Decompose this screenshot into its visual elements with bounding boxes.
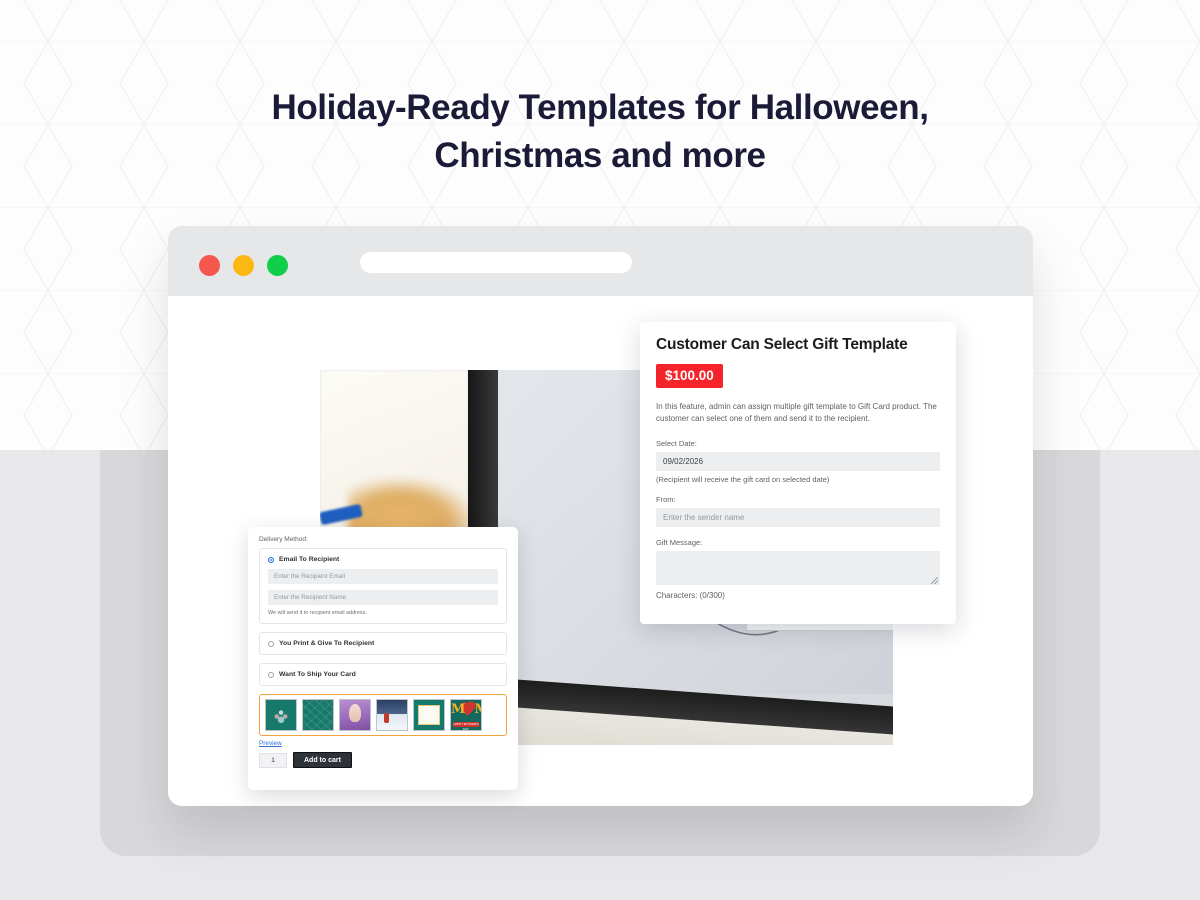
recipient-email-input[interactable]: Enter the Recipient Email xyxy=(268,569,498,584)
quantity-input[interactable]: 1 xyxy=(259,753,287,768)
heart-icon xyxy=(461,703,474,716)
template-thumbnail-2[interactable] xyxy=(302,699,334,731)
template-thumbnail-5[interactable] xyxy=(413,699,445,731)
character-counter: Characters: (0/300) xyxy=(656,591,940,600)
delivery-option-email[interactable]: Email To Recipient Enter the Recipient E… xyxy=(259,548,507,624)
delivery-option-print[interactable]: You Print & Give To Recipient xyxy=(259,632,507,655)
template-thumbnail-1[interactable] xyxy=(265,699,297,731)
radio-ship-card-icon[interactable] xyxy=(268,672,274,678)
delivery-option-ship-label: Want To Ship Your Card xyxy=(279,671,356,678)
from-input[interactable]: Enter the sender name xyxy=(656,508,940,527)
template-thumbnail-6[interactable]: HAPPY MOTHER'S DAY xyxy=(450,699,482,731)
headline-line-1: Holiday-Ready Templates for Halloween, xyxy=(271,88,928,127)
select-date-hint: (Recipient will receive the gift card on… xyxy=(656,475,940,484)
template-thumbnail-3[interactable] xyxy=(339,699,371,731)
recipient-name-input[interactable]: Enter the Recipient Name xyxy=(268,590,498,605)
from-label: From: xyxy=(656,495,940,504)
gift-panel-title: Customer Can Select Gift Template xyxy=(656,336,940,354)
page-root: Holiday-Ready Templates for Halloween, C… xyxy=(0,0,1200,900)
gift-message-label: Gift Message: xyxy=(656,538,940,547)
gift-panel-description: In this feature, admin can assign multip… xyxy=(656,401,940,425)
window-maximize-icon[interactable] xyxy=(267,255,288,276)
headline-line-2: Christmas and more xyxy=(0,132,1200,180)
price-badge: $100.00 xyxy=(656,364,723,388)
window-minimize-icon[interactable] xyxy=(233,255,254,276)
gift-template-panel: Customer Can Select Gift Template $100.0… xyxy=(640,322,956,624)
delivery-method-label: Delivery Method: xyxy=(259,536,507,543)
delivery-method-panel: Delivery Method: Email To Recipient Ente… xyxy=(248,527,518,790)
select-date-label: Select Date: xyxy=(656,439,940,448)
address-bar[interactable] xyxy=(360,252,632,273)
radio-you-print-icon[interactable] xyxy=(268,641,274,647)
resize-handle-icon[interactable] xyxy=(931,577,938,584)
window-close-icon[interactable] xyxy=(199,255,220,276)
delivery-option-print-label: You Print & Give To Recipient xyxy=(279,640,374,647)
template-thumbnail-strip[interactable]: HAPPY MOTHER'S DAY xyxy=(259,694,507,736)
delivery-option-email-label: Email To Recipient xyxy=(279,556,339,563)
cart-controls: 1 Add to cart xyxy=(259,752,507,768)
preview-link[interactable]: Preview xyxy=(259,740,507,747)
delivery-option-ship[interactable]: Want To Ship Your Card xyxy=(259,663,507,686)
gift-message-textarea[interactable] xyxy=(656,551,940,585)
recipient-email-note: We will send it to recipient email addre… xyxy=(268,610,498,616)
template-thumbnail-4[interactable] xyxy=(376,699,408,731)
add-to-cart-button[interactable]: Add to cart xyxy=(293,752,352,768)
page-title: Holiday-Ready Templates for Halloween, C… xyxy=(0,84,1200,180)
radio-email-to-recipient-icon[interactable] xyxy=(268,557,274,563)
select-date-input[interactable]: 09/02/2026 xyxy=(656,452,940,471)
template-banner-text: HAPPY MOTHER'S DAY xyxy=(453,722,479,727)
